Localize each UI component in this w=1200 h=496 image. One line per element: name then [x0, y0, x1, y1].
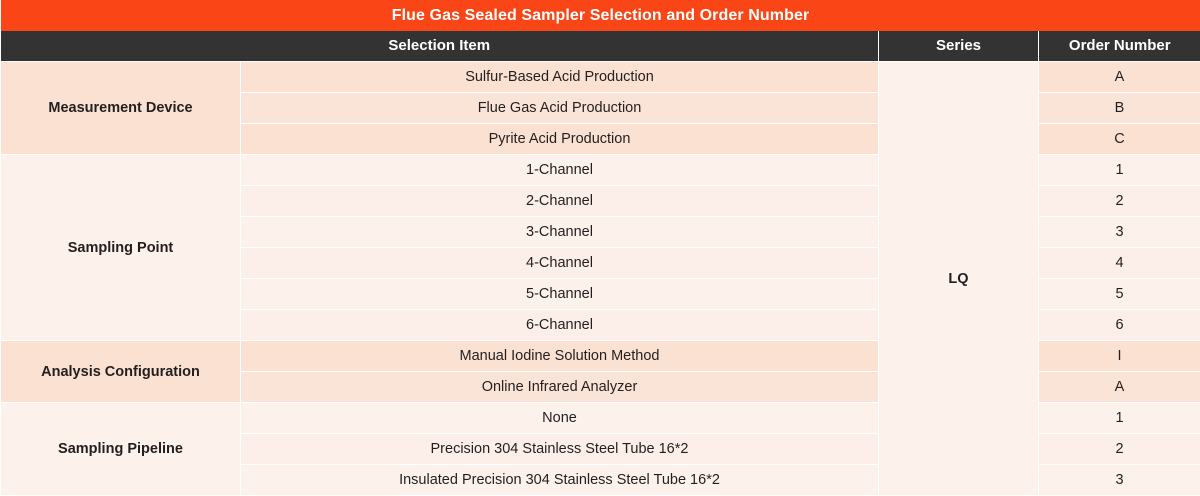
order-number-cell: I — [1039, 341, 1200, 372]
selection-item-cell: None — [241, 403, 879, 434]
table-title: Flue Gas Sealed Sampler Selection and Or… — [1, 0, 1200, 31]
order-number-cell: 4 — [1039, 248, 1200, 279]
order-number-cell: 5 — [1039, 279, 1200, 310]
order-number-cell: C — [1039, 124, 1200, 155]
group-label: Analysis Configuration — [1, 341, 241, 403]
table-title-row: Flue Gas Sealed Sampler Selection and Or… — [1, 0, 1200, 31]
order-number-cell: 3 — [1039, 217, 1200, 248]
selection-item-cell: 5-Channel — [241, 279, 879, 310]
order-number-cell: A — [1039, 372, 1200, 403]
order-number-cell: 3 — [1039, 465, 1200, 496]
selection-item-cell: Pyrite Acid Production — [241, 124, 879, 155]
order-number-cell: 6 — [1039, 310, 1200, 341]
selection-item-cell: Manual Iodine Solution Method — [241, 341, 879, 372]
selection-order-table: Flue Gas Sealed Sampler Selection and Or… — [0, 0, 1200, 496]
table-head-section: Flue Gas Sealed Sampler Selection and Or… — [1, 0, 1200, 62]
group-label: Measurement Device — [1, 62, 241, 155]
table-body: Measurement DeviceSulfur-Based Acid Prod… — [1, 62, 1200, 496]
order-number-cell: 1 — [1039, 155, 1200, 186]
table-row: Measurement DeviceSulfur-Based Acid Prod… — [1, 62, 1200, 93]
order-number-cell: 1 — [1039, 403, 1200, 434]
order-number-cell: 2 — [1039, 186, 1200, 217]
selection-item-cell: Flue Gas Acid Production — [241, 93, 879, 124]
selection-item-cell: 2-Channel — [241, 186, 879, 217]
selection-item-cell: Insulated Precision 304 Stainless Steel … — [241, 465, 879, 496]
group-label: Sampling Pipeline — [1, 403, 241, 496]
order-number-cell: 2 — [1039, 434, 1200, 465]
column-header-selection-item: Selection Item — [1, 31, 879, 62]
selection-item-cell: Online Infrared Analyzer — [241, 372, 879, 403]
selection-item-cell: Sulfur-Based Acid Production — [241, 62, 879, 93]
selection-item-cell: 4-Channel — [241, 248, 879, 279]
selection-item-cell: 3-Channel — [241, 217, 879, 248]
selection-item-cell: Precision 304 Stainless Steel Tube 16*2 — [241, 434, 879, 465]
column-header-row: Selection Item Series Order Number — [1, 31, 1200, 62]
selection-item-cell: 1-Channel — [241, 155, 879, 186]
series-cell: LQ — [879, 62, 1039, 496]
column-header-order-number: Order Number — [1039, 31, 1200, 62]
order-number-cell: A — [1039, 62, 1200, 93]
selection-item-cell: 6-Channel — [241, 310, 879, 341]
column-header-series: Series — [879, 31, 1039, 62]
group-label: Sampling Point — [1, 155, 241, 341]
order-number-cell: B — [1039, 93, 1200, 124]
